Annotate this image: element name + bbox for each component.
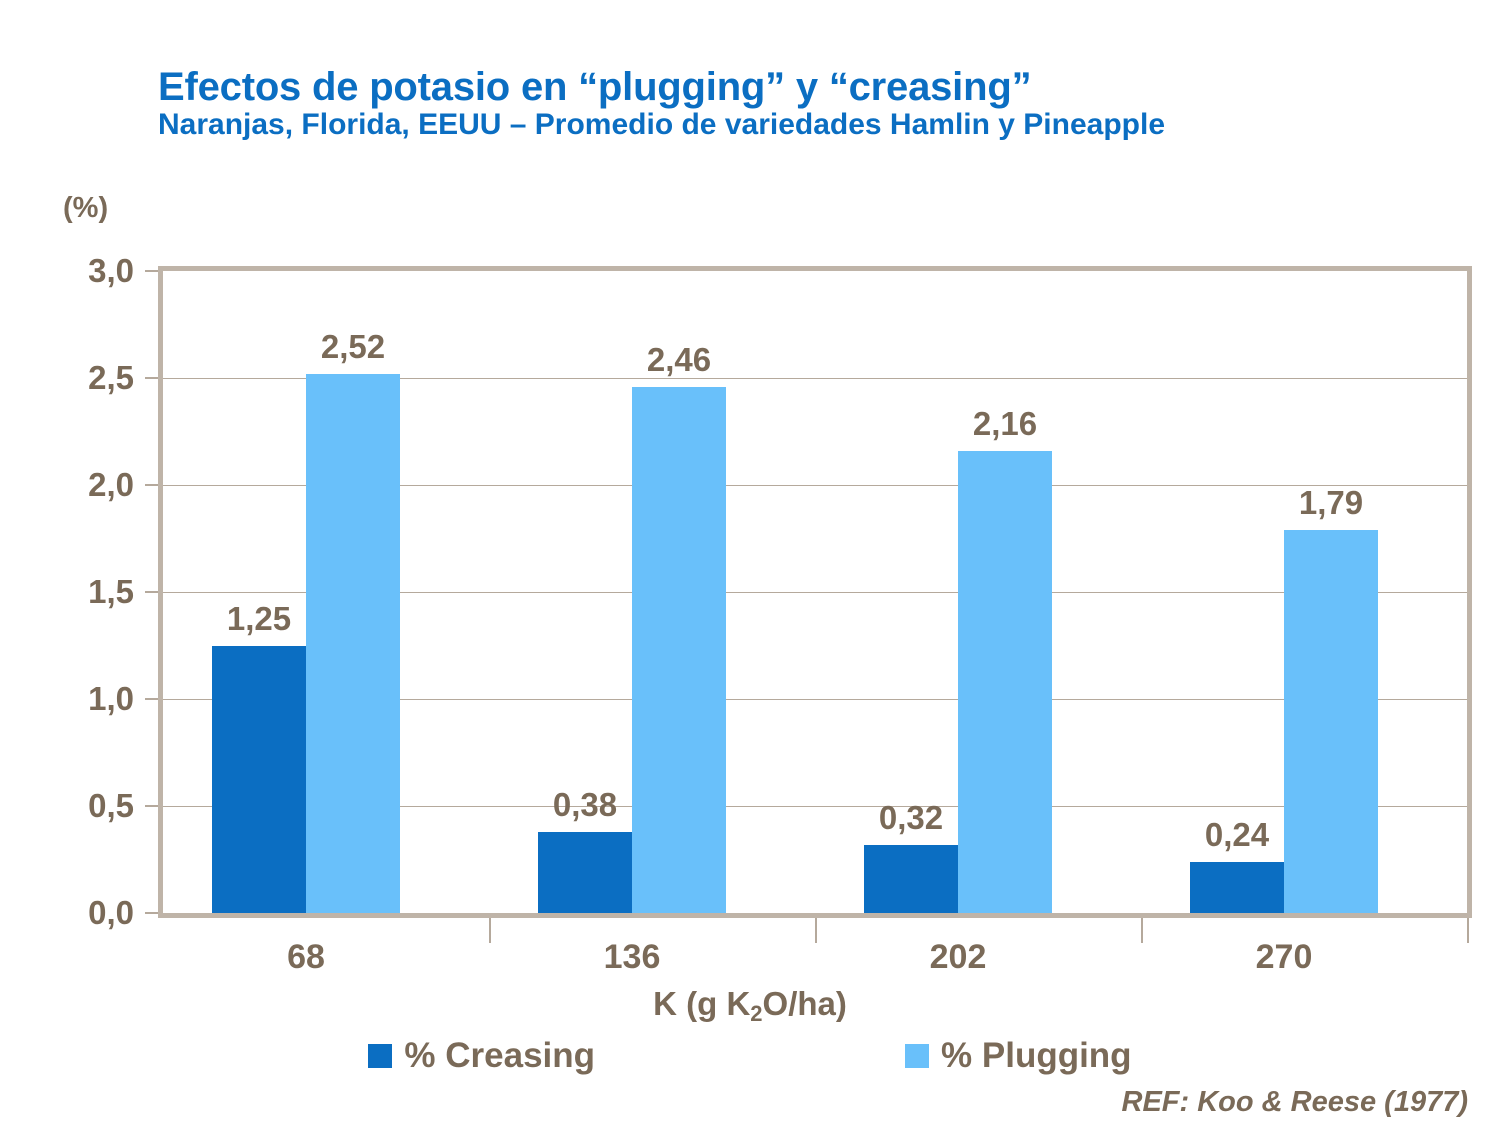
y-axis-unit-label: (%)	[63, 192, 108, 225]
bar-value-label: 0,24	[1205, 816, 1269, 854]
bar-value-label: 2,52	[321, 328, 385, 366]
legend-label-plugging: % Plugging	[941, 1036, 1132, 1076]
x-axis-tick-label-202: 202	[930, 938, 987, 977]
y-axis-tick	[145, 591, 158, 593]
legend-label-creasing: % Creasing	[404, 1036, 595, 1076]
bar-plugging-202[interactable]	[958, 451, 1052, 913]
bar-creasing-68[interactable]	[212, 646, 306, 914]
legend-swatch-icon-creasing	[368, 1044, 392, 1068]
y-axis-tick-label: 2,5	[14, 359, 134, 397]
x-axis-title-subscript: 2	[750, 1001, 762, 1026]
reference-note: REF: Koo & Reese (1977)	[1122, 1086, 1469, 1119]
y-axis-tick	[145, 912, 158, 914]
x-axis-title: K (g K2O/ha)	[0, 985, 1500, 1023]
bar-creasing-270[interactable]	[1190, 862, 1284, 913]
y-axis-tick	[145, 698, 158, 700]
x-axis-tick	[489, 918, 491, 943]
legend-swatch-icon-plugging	[905, 1044, 929, 1068]
bar-value-label: 0,32	[879, 799, 943, 837]
y-axis-tick-label: 1,0	[14, 680, 134, 718]
x-axis-tick-label-270: 270	[1256, 938, 1313, 977]
legend: % Creasing % Plugging	[0, 1036, 1500, 1076]
bar-value-label: 2,46	[647, 341, 711, 379]
title-block: Efectos de potasio en “plugging” y “crea…	[158, 66, 1358, 142]
y-axis-tick-label: 3,0	[14, 252, 134, 290]
bar-plugging-136[interactable]	[632, 387, 726, 913]
x-axis-tick-label-68: 68	[287, 938, 325, 977]
x-axis-tick-label-136: 136	[604, 938, 661, 977]
x-axis-tick	[1141, 918, 1143, 943]
bar-value-label: 2,16	[973, 405, 1037, 443]
y-axis-tick-label: 0,5	[14, 787, 134, 825]
bar-value-label: 0,38	[553, 786, 617, 824]
bar-plugging-68[interactable]	[306, 374, 400, 913]
bar-creasing-202[interactable]	[864, 845, 958, 913]
x-axis-tick	[815, 918, 817, 943]
x-axis-title-suffix: O/ha)	[763, 985, 847, 1022]
page-title: Efectos de potasio en “plugging” y “crea…	[158, 66, 1358, 108]
y-axis-tick-label: 0,0	[14, 894, 134, 932]
bar-plugging-270[interactable]	[1284, 530, 1378, 913]
bar-creasing-136[interactable]	[538, 832, 632, 913]
y-axis-tick-label: 2,0	[14, 466, 134, 504]
x-axis-title-prefix: K (g K	[653, 985, 750, 1022]
y-axis-tick	[145, 270, 158, 272]
bar-value-label: 1,79	[1299, 484, 1363, 522]
x-axis-tick	[1467, 918, 1469, 943]
y-axis-tick-label: 1,5	[14, 573, 134, 611]
y-axis-tick	[145, 484, 158, 486]
bar-value-label: 1,25	[227, 600, 291, 638]
y-axis-tick	[145, 805, 158, 807]
legend-item-plugging[interactable]: % Plugging	[905, 1036, 1132, 1076]
page-subtitle: Naranjas, Florida, EEUU – Promedio de va…	[158, 108, 1248, 142]
plot-inner	[163, 271, 1467, 913]
legend-item-creasing[interactable]: % Creasing	[368, 1036, 595, 1076]
y-axis-tick	[145, 377, 158, 379]
